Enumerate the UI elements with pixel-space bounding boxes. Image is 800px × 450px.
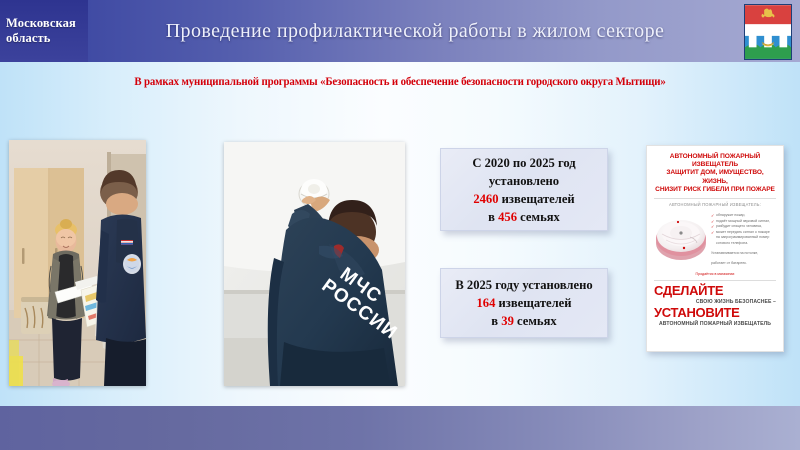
smoke-detector-icon — [654, 210, 708, 264]
poster-cta-safer: СВОЮ ЖИЗНЬ БЕЗОПАСНЕЕ – — [654, 299, 776, 305]
poster-divider-bottom — [654, 280, 776, 281]
list-item: ✓обнаружит пожар, — [711, 213, 776, 218]
region-badge: Московская область — [0, 0, 88, 62]
stat-b-detectors-label: извещателей — [499, 296, 572, 310]
check-icon: ✓ — [711, 213, 714, 218]
stat-a-detectors-label: извещателей — [502, 192, 575, 206]
stat-a-line1: С 2020 по 2025 год — [472, 154, 575, 172]
poster-product-section: ✓обнаружит пожар, ✓подаёт мощный звуково… — [654, 210, 776, 266]
stat-b-families-count: 39 — [501, 314, 514, 328]
stat-box-2020-2025: С 2020 по 2025 год установлено 2460 изве… — [440, 148, 608, 231]
list-item: ✓может передать сигнал о пожаре — [711, 230, 776, 235]
mytishchi-coat-of-arms-icon — [744, 4, 792, 60]
page-title: Проведение профилактической работы в жил… — [100, 0, 730, 62]
region-label-line1: Московская — [6, 16, 88, 31]
stat-b-detectors-count: 164 — [476, 296, 495, 310]
slide-header: Московская область Проведение профилакти… — [0, 0, 800, 62]
slide-root: Московская область Проведение профилакти… — [0, 0, 800, 450]
stat-b-prefix: в — [491, 314, 498, 328]
stat-a-prefix: в — [488, 210, 495, 224]
poster-feature-list: ✓обнаружит пожар, ✓подаёт мощный звуково… — [711, 210, 776, 266]
stat-a-line4: в 456 семьях — [488, 208, 560, 226]
stat-a-line2: установлено — [489, 172, 559, 190]
poster-divider-top — [654, 198, 776, 199]
stat-b-line3: в 39 семьях — [491, 312, 556, 330]
poster-cta-make: СДЕЛАЙТЕ — [654, 284, 776, 298]
poster-subhead: АВТОНОМНЫЙ ПОЖАРНЫЙ ИЗВЕЩАТЕЛЬ: — [654, 202, 776, 207]
photo-officer-installing-detector: МЧС РОССИИ — [224, 142, 405, 386]
poster-headline-line3: СНИЗИТ РИСК ГИБЕЛИ ПРИ ПОЖАРЕ — [654, 186, 776, 194]
poster-cta-install: УСТАНОВИТЕ — [654, 306, 776, 320]
program-subtitle: В рамках муниципальной программы «Безопа… — [16, 76, 784, 88]
check-icon: ✓ — [711, 219, 714, 224]
poster-note-line2: работает от батареек. — [711, 261, 776, 266]
stat-a-line3: 2460 извещателей — [473, 190, 574, 208]
poster-note-line1: Устанавливается на потолке, — [711, 251, 776, 256]
list-item-cont: на запрограммированный номер — [711, 235, 776, 240]
stat-a-families-label: семьях — [520, 210, 560, 224]
list-item: ✓подаёт мощный звуковой сигнал, — [711, 219, 776, 224]
region-label-line2: область — [6, 31, 88, 46]
stat-box-2025: В 2025 году установлено 164 извещателей … — [440, 268, 608, 338]
poster-cta-product: АВТОНОМНЫЙ ПОЖАРНЫЙ ИЗВЕЩАТЕЛЬ — [654, 321, 776, 327]
poster-sale-note: Продаётся в магазинах — [654, 272, 776, 276]
poster-headline-line1: АВТОНОМНЫЙ ПОЖАРНЫЙ ИЗВЕЩАТЕЛЬ — [654, 153, 776, 169]
stat-b-families-label: семьях — [517, 314, 557, 328]
check-icon: ✓ — [711, 224, 714, 229]
stat-b-line1: В 2025 году установлено — [455, 276, 592, 294]
fire-detector-poster: АВТОНОМНЫЙ ПОЖАРНЫЙ ИЗВЕЩАТЕЛЬ ЗАЩИТИТ Д… — [646, 145, 784, 352]
poster-cta: СДЕЛАЙТЕ СВОЮ ЖИЗНЬ БЕЗОПАСНЕЕ – УСТАНОВ… — [654, 284, 776, 327]
check-icon: ✓ — [711, 230, 714, 235]
list-item: ✓разбудит спящего человека, — [711, 224, 776, 229]
photo-officer-handing-leaflets — [9, 140, 146, 386]
list-item-cont: сотового телефона. — [711, 241, 776, 246]
slide-footer — [0, 406, 800, 450]
stat-a-families-count: 456 — [498, 210, 517, 224]
poster-headline-line2: ЗАЩИТИТ ДОМ, ИМУЩЕСТВО, ЖИЗНЬ, — [654, 169, 776, 185]
stat-a-detectors-count: 2460 — [473, 192, 498, 206]
stat-b-line2: 164 извещателей — [476, 294, 571, 312]
